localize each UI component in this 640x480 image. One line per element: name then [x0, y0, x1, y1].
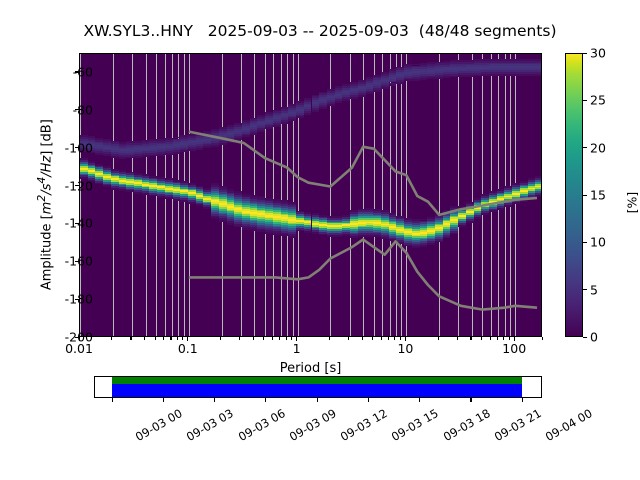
x-tick-mark-minor	[509, 337, 510, 340]
x-tick-mark	[187, 337, 188, 341]
x-tick-mark-minor	[388, 337, 389, 340]
y-tick-mark	[75, 223, 79, 224]
x-tick-mark	[296, 337, 297, 341]
timeline-tick-mark	[368, 398, 369, 402]
x-tick-mark-minor	[239, 337, 240, 340]
colorbar[interactable]	[565, 53, 583, 337]
timeline-tick-label: 09-03 09	[287, 406, 339, 444]
colorbar-tick-label: 10	[590, 235, 606, 250]
x-tick-mark	[514, 337, 515, 341]
colorbar-tick-mark	[583, 242, 587, 243]
y-axis-label: Amplitude [m2/s4/Hz] [dB]	[35, 55, 54, 355]
x-tick-mark-minor	[279, 337, 280, 340]
x-tick-mark-minor	[490, 337, 491, 340]
data-available-bar	[112, 377, 522, 384]
timeline-tick-label: 09-03 03	[184, 406, 236, 444]
x-tick-mark-minor	[457, 337, 458, 340]
x-tick-label: 100	[502, 341, 526, 356]
timeline-tick-label: 09-03 12	[338, 406, 390, 444]
x-tick-mark-minor	[182, 337, 183, 340]
x-tick-label: 0.1	[178, 341, 198, 356]
x-tick-mark-minor	[163, 337, 164, 340]
colorbar-tick-label: 20	[590, 140, 606, 155]
x-tick-mark-minor	[542, 337, 543, 340]
timeline-tick-mark	[214, 398, 215, 402]
timeline-tick-mark	[265, 398, 266, 402]
x-tick-mark-minor	[372, 337, 373, 340]
x-tick-mark-minor	[170, 337, 171, 340]
colorbar-tick-mark	[583, 100, 587, 101]
colorbar-tick-mark	[583, 147, 587, 148]
x-tick-label: 0.01	[65, 341, 93, 356]
x-tick-mark-minor	[144, 337, 145, 340]
x-tick-mark-minor	[481, 337, 482, 340]
x-axis-label: Period [s]	[79, 361, 542, 376]
page-title: XW.SYL3..HNY 2025-09-03 -- 2025-09-03 (4…	[0, 22, 640, 40]
y-tick-mark	[75, 261, 79, 262]
x-tick-mark-minor	[177, 337, 178, 340]
x-tick-mark-minor	[497, 337, 498, 340]
x-tick-mark-minor	[263, 337, 264, 340]
x-tick-mark-minor	[348, 337, 349, 340]
colorbar-tick-mark	[583, 289, 587, 290]
x-tick-mark-minor	[111, 337, 112, 340]
timeline-tick-label: 09-03 06	[236, 406, 288, 444]
noise-model-curve	[189, 240, 537, 310]
x-tick-label: 10	[397, 341, 413, 356]
timeline-tick-label: 09-03 15	[389, 406, 441, 444]
x-tick-mark-minor	[438, 337, 439, 340]
colorbar-tick-mark	[583, 53, 587, 54]
time-coverage-bar[interactable]	[94, 376, 542, 398]
timeline-tick-mark	[470, 398, 471, 402]
x-tick-mark-minor	[394, 337, 395, 340]
x-tick-mark-minor	[286, 337, 287, 340]
data-coverage-bar	[112, 384, 522, 397]
y-tick-mark	[75, 147, 79, 148]
x-tick-mark-minor	[503, 337, 504, 340]
x-tick-mark-minor	[381, 337, 382, 340]
timeline-tick-mark	[163, 398, 164, 402]
x-tick-mark-minor	[291, 337, 292, 340]
timeline-tick-label: 09-03 21	[492, 406, 544, 444]
ppsd-plot-area[interactable]	[79, 53, 542, 337]
colorbar-tick-label: 15	[590, 188, 606, 203]
timeline-tick-mark	[419, 398, 420, 402]
noise-model-curve	[189, 132, 537, 215]
x-tick-mark-minor	[470, 337, 471, 340]
y-tick-mark	[75, 109, 79, 110]
x-tick-mark-minor	[130, 337, 131, 340]
x-tick-mark-minor	[220, 337, 221, 340]
colorbar-tick-mark	[583, 195, 587, 196]
y-tick-mark	[75, 71, 79, 72]
colorbar-tick-label: 0	[590, 330, 598, 345]
colorbar-tick-label: 25	[590, 93, 606, 108]
x-tick-mark-minor	[155, 337, 156, 340]
colorbar-tick-mark	[583, 337, 587, 338]
x-tick-label: 1	[293, 341, 301, 356]
colorbar-label: [%]	[625, 173, 640, 233]
x-tick-mark-minor	[253, 337, 254, 340]
timeline-tick-mark	[317, 398, 318, 402]
timeline-tick-label: 09-03 00	[133, 406, 185, 444]
colorbar-tick-label: 5	[590, 282, 598, 297]
x-tick-mark-minor	[329, 337, 330, 340]
colorbar-tick-label: 30	[590, 46, 606, 61]
timeline-tick-mark	[112, 398, 113, 402]
x-tick-mark	[405, 337, 406, 341]
y-tick-mark	[75, 299, 79, 300]
timeline-tick-label: 09-03 18	[441, 406, 493, 444]
x-tick-mark-minor	[272, 337, 273, 340]
x-tick-mark	[79, 337, 80, 341]
y-tick-mark	[75, 185, 79, 186]
ppsd-overlay	[80, 54, 542, 337]
x-tick-mark-minor	[362, 337, 363, 340]
x-tick-mark-minor	[400, 337, 401, 340]
timeline-tick-label: 09-04 00	[543, 406, 595, 444]
timeline-tick-mark	[522, 398, 523, 402]
